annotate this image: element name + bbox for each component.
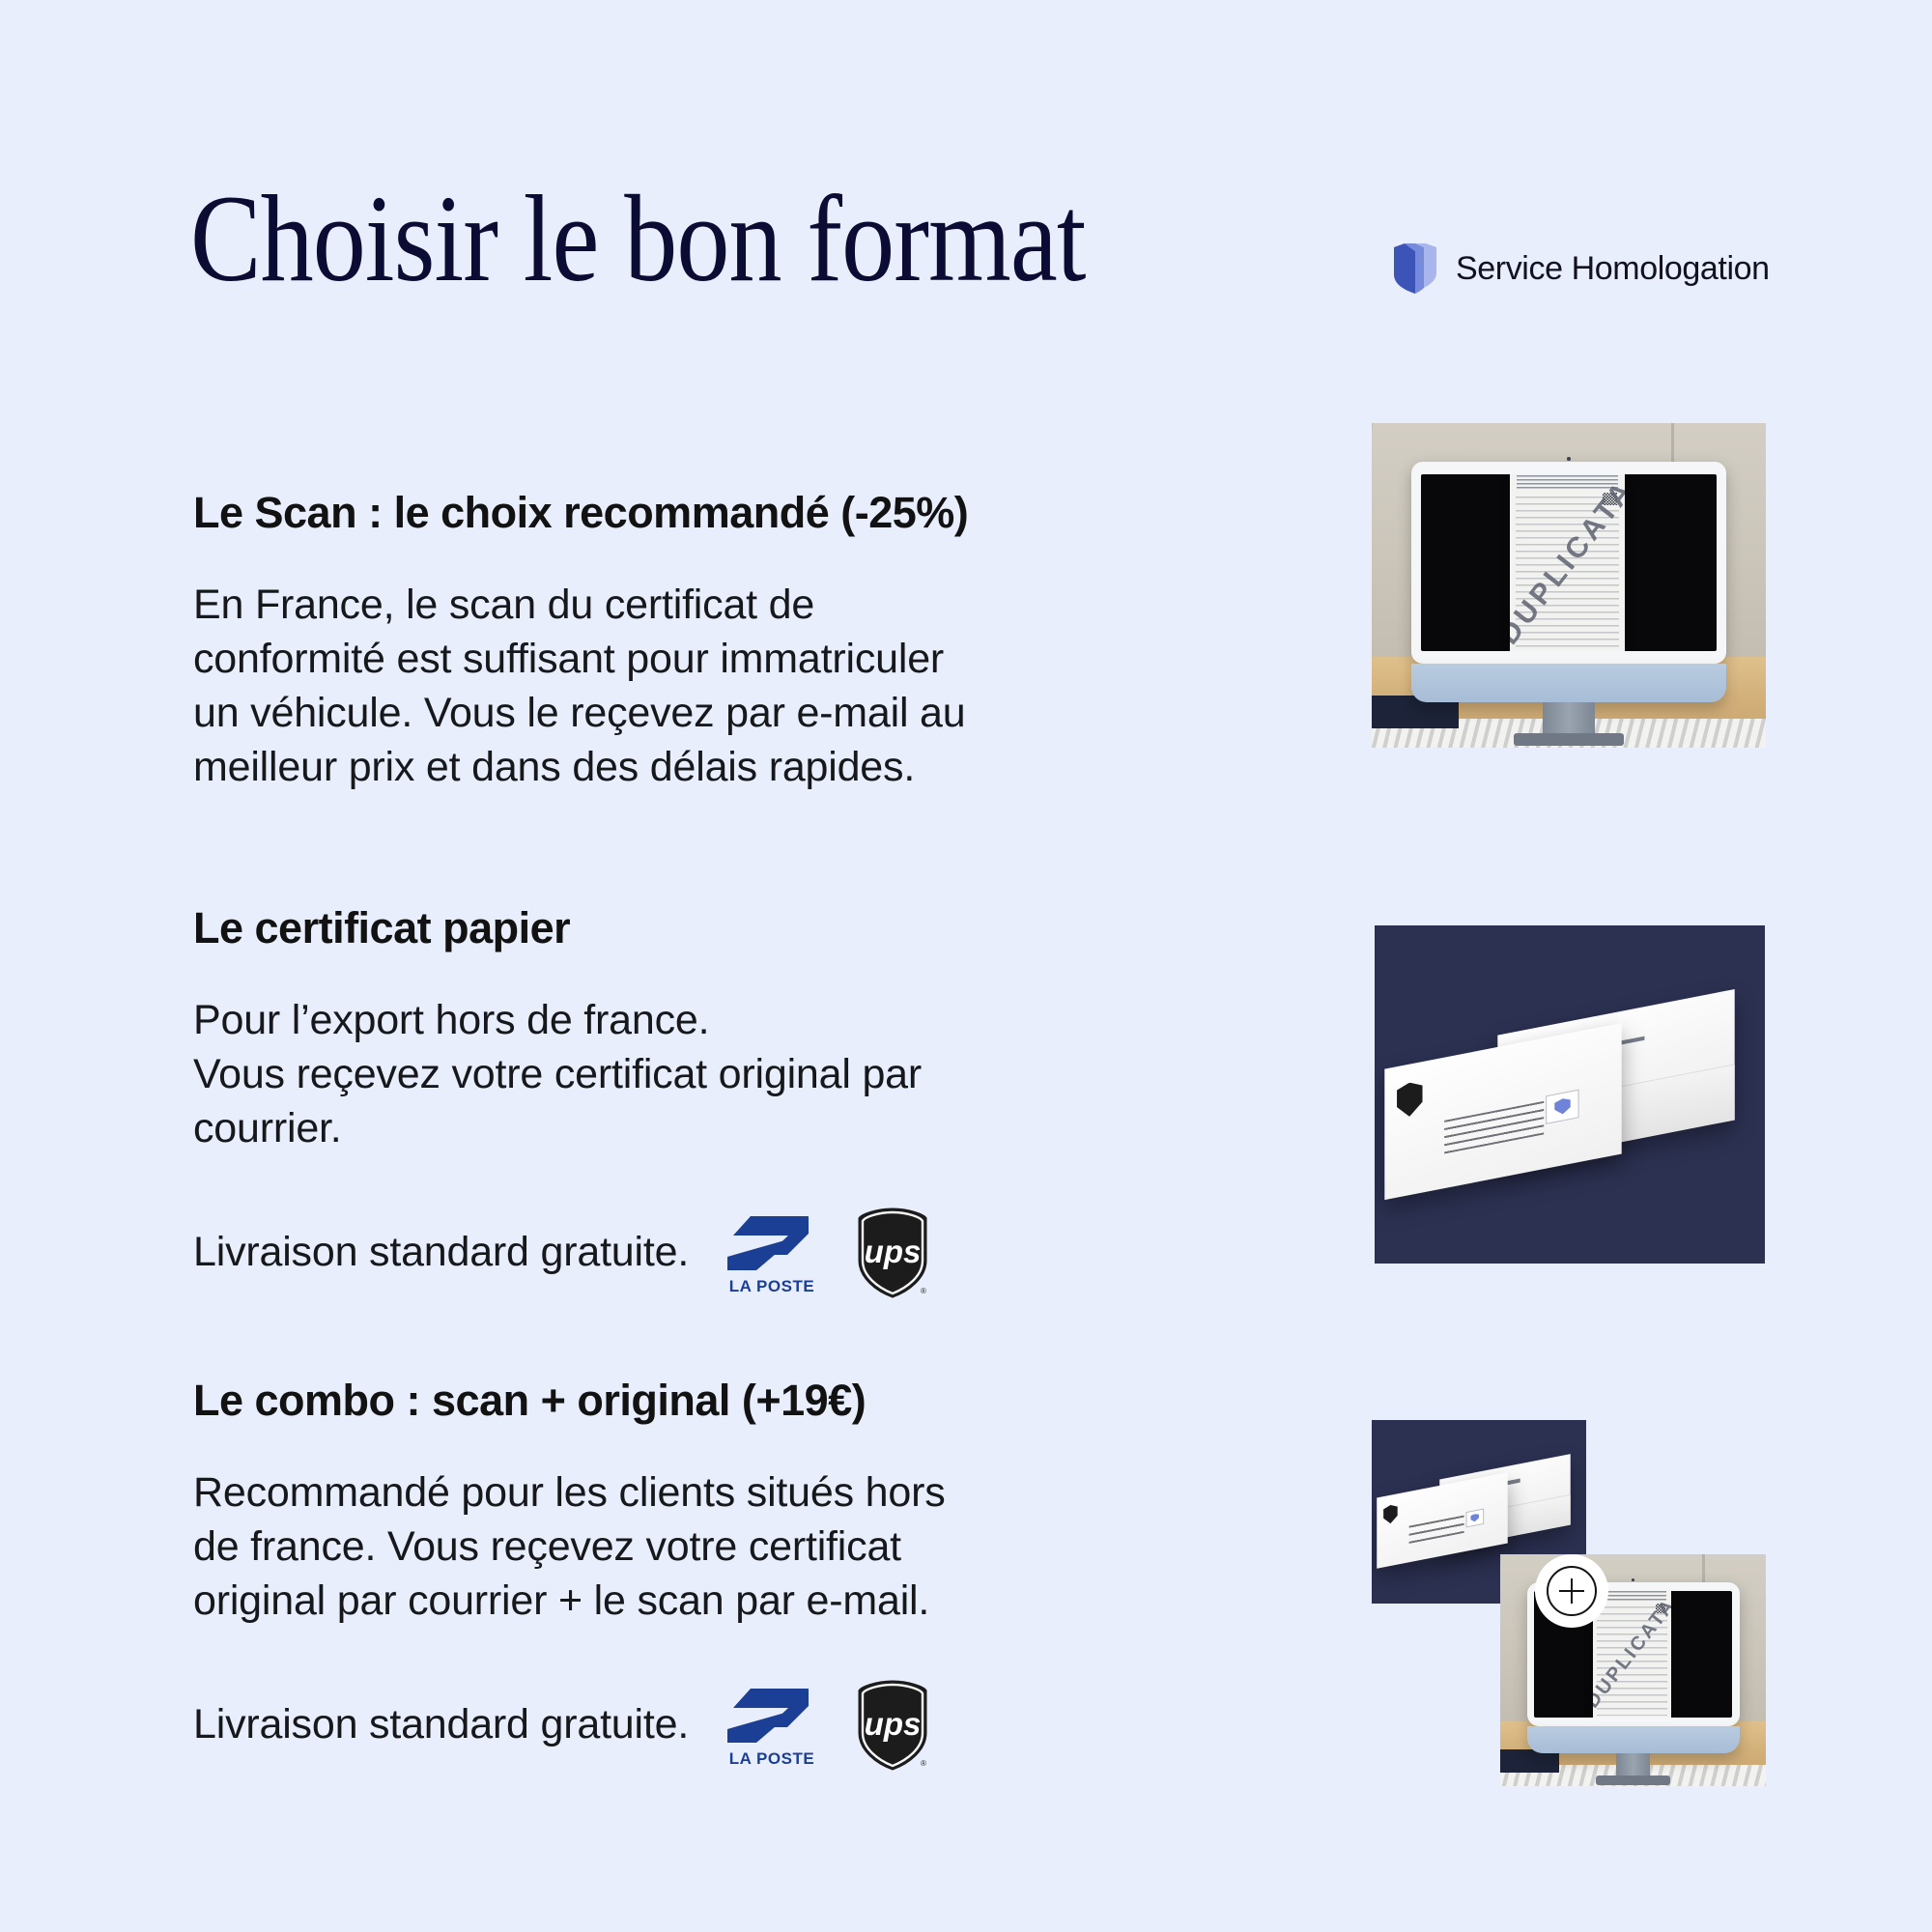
monitor-bezel: DUPLICATA: [1411, 462, 1726, 663]
monitor-scene: DUPLICATA: [1500, 1554, 1766, 1786]
svg-text:LA POSTE: LA POSTE: [729, 1749, 814, 1768]
ups-logo-icon: [1383, 1504, 1398, 1525]
section-scan: Le Scan : le choix recommandé (-25%) En …: [193, 488, 1333, 795]
section-papier: Le certificat papier Pour l’export hors …: [193, 903, 1333, 1299]
brand-lockup: Service Homologation: [1394, 243, 1770, 294]
monitor-chin: [1527, 1726, 1740, 1754]
envelope-front: [1384, 1023, 1622, 1200]
ups-logo-icon: ups ®: [855, 1207, 930, 1299]
section-papier-body: Pour l’export hors de france. Vous reçev…: [193, 994, 1333, 1156]
svg-text:ups: ups: [865, 1706, 922, 1742]
envelope-front: [1378, 1473, 1508, 1570]
recipient-address-block: [1444, 1101, 1544, 1154]
photo-scan-monitor: DUPLICATA: [1372, 423, 1766, 748]
brand-name: Service Homologation: [1456, 250, 1770, 288]
postage-stamp: [1547, 1089, 1579, 1123]
document-body-lines: [1516, 497, 1619, 648]
monitor-stand-foot: [1596, 1776, 1670, 1785]
document-body-lines: [1597, 1606, 1666, 1716]
plus-icon: [1547, 1566, 1597, 1616]
recipient-address-block: [1409, 1516, 1464, 1545]
certificate-document: DUPLICATA: [1510, 474, 1625, 650]
shipping-label: Livraison standard gratuite.: [193, 1701, 689, 1748]
document-header-lines: [1598, 1591, 1666, 1601]
document-header-lines: [1517, 475, 1618, 489]
monitor-stand-neck: [1616, 1753, 1651, 1776]
section-combo-heading: Le combo : scan + original (+19€): [193, 1376, 1333, 1426]
shield-icon: [1554, 1097, 1571, 1116]
page-title: Choisir le bon format: [190, 177, 1086, 300]
monitor-scene: DUPLICATA: [1372, 423, 1766, 748]
monitor-chin: [1411, 664, 1726, 702]
shipping-row-combo: Livraison standard gratuite. LA POSTE up…: [193, 1679, 1333, 1772]
photo-combo-monitor: DUPLICATA: [1500, 1554, 1766, 1786]
photo-paper-envelopes: [1375, 925, 1765, 1264]
svg-text:®: ®: [921, 1287, 926, 1295]
svg-text:LA POSTE: LA POSTE: [729, 1277, 814, 1295]
section-combo-body: Recommandé pour les clients situés hors …: [193, 1466, 1333, 1629]
shield-icon: [1394, 243, 1436, 294]
certificate-document: DUPLICATA: [1593, 1591, 1670, 1718]
section-papier-heading: Le certificat papier: [193, 903, 1333, 953]
svg-text:ups: ups: [865, 1234, 922, 1269]
section-combo: Le combo : scan + original (+19€) Recomm…: [193, 1376, 1333, 1772]
ups-logo-icon: [1397, 1080, 1423, 1119]
monitor-stand-foot: [1514, 733, 1624, 746]
section-scan-heading: Le Scan : le choix recommandé (-25%): [193, 488, 1333, 538]
shipping-label: Livraison standard gratuite.: [193, 1229, 689, 1276]
shipping-row-papier: Livraison standard gratuite. LA POSTE up…: [193, 1207, 1333, 1299]
la-poste-logo-icon: LA POSTE: [724, 1683, 820, 1768]
monitor-screen: DUPLICATA: [1421, 474, 1716, 650]
poster-page: Choisir le bon format Service Homologati…: [0, 0, 1932, 1932]
svg-text:®: ®: [921, 1759, 926, 1768]
ups-logo-icon: ups ®: [855, 1679, 930, 1772]
la-poste-logo-icon: LA POSTE: [724, 1210, 820, 1295]
envelope-scene: [1375, 925, 1765, 1264]
section-scan-body: En France, le scan du certificat de conf…: [193, 579, 1333, 795]
postage-stamp: [1466, 1509, 1485, 1528]
monitor-stand-neck: [1543, 702, 1594, 735]
shield-icon: [1471, 1514, 1480, 1523]
plus-combine-badge: [1544, 1563, 1600, 1619]
